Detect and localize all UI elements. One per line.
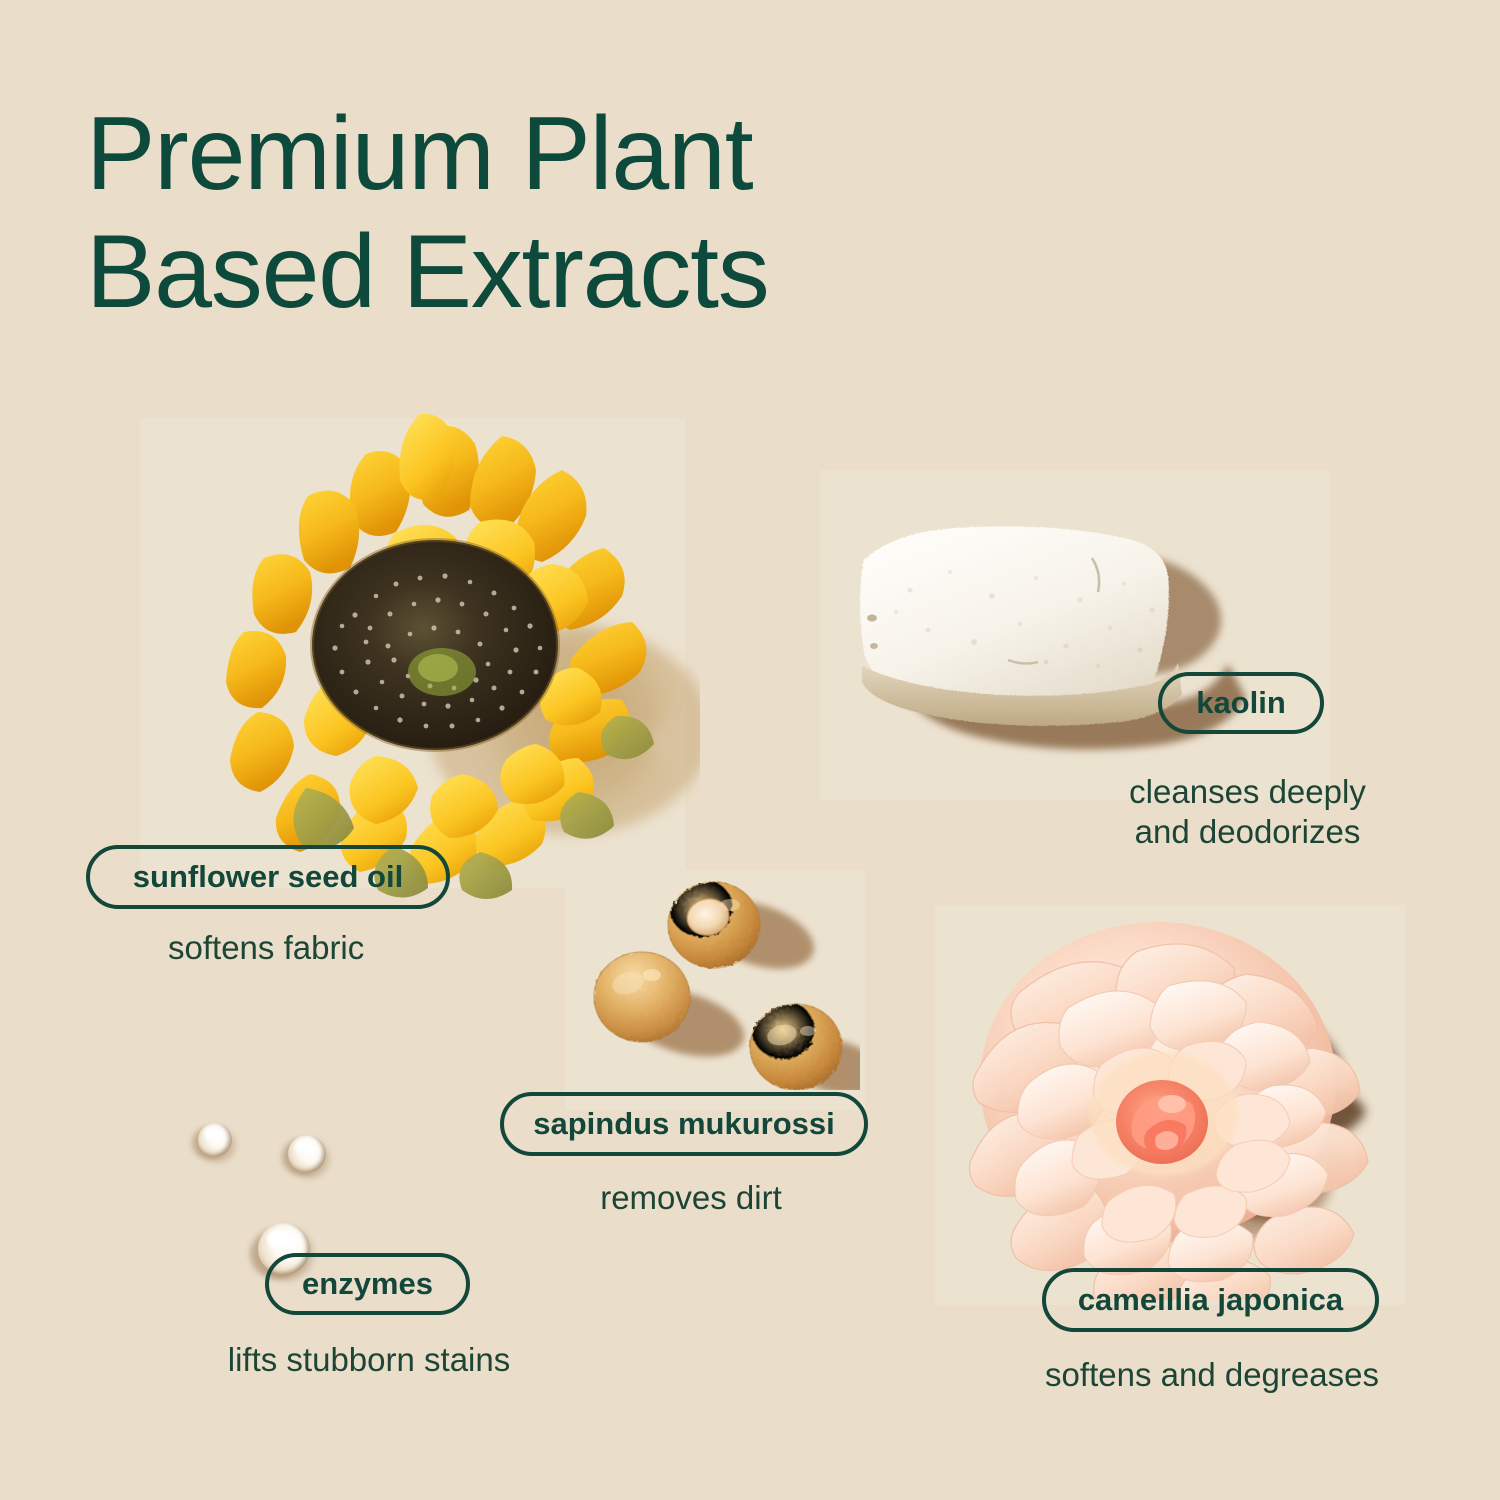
ingredient-caption-cameillia-japonica: softens and degreases [1038, 1355, 1386, 1395]
page-title: Premium Plant Based Extracts [86, 96, 1066, 331]
enzyme-droplet [288, 1135, 326, 1173]
ingredient-pill-sunflower-seed-oil[interactable]: sunflower seed oil [86, 845, 450, 909]
ingredient-caption-enzymes: lifts stubborn stains [216, 1340, 522, 1380]
ingredient-pill-enzymes[interactable]: enzymes [265, 1253, 470, 1315]
infographic-canvas: Premium Plant Based Extracts [0, 0, 1500, 1500]
ingredient-pill-kaolin[interactable]: kaolin [1158, 672, 1324, 734]
ingredient-caption-sunflower-seed-oil: softens fabric [168, 928, 528, 968]
ingredient-caption-kaolin: cleanses deeply and deodorizes [1105, 772, 1390, 853]
sunflower-photo [180, 400, 700, 900]
kaolin-rock-photo [840, 500, 1280, 790]
enzyme-droplet [198, 1123, 232, 1157]
ingredient-caption-sapindus-mukurossi: removes dirt [586, 1178, 796, 1218]
soapberry-photo [580, 875, 860, 1090]
camellia-photo [960, 900, 1400, 1300]
ingredient-pill-sapindus-mukurossi[interactable]: sapindus mukurossi [500, 1092, 868, 1156]
ingredient-pill-cameillia-japonica[interactable]: cameillia japonica [1042, 1268, 1379, 1332]
